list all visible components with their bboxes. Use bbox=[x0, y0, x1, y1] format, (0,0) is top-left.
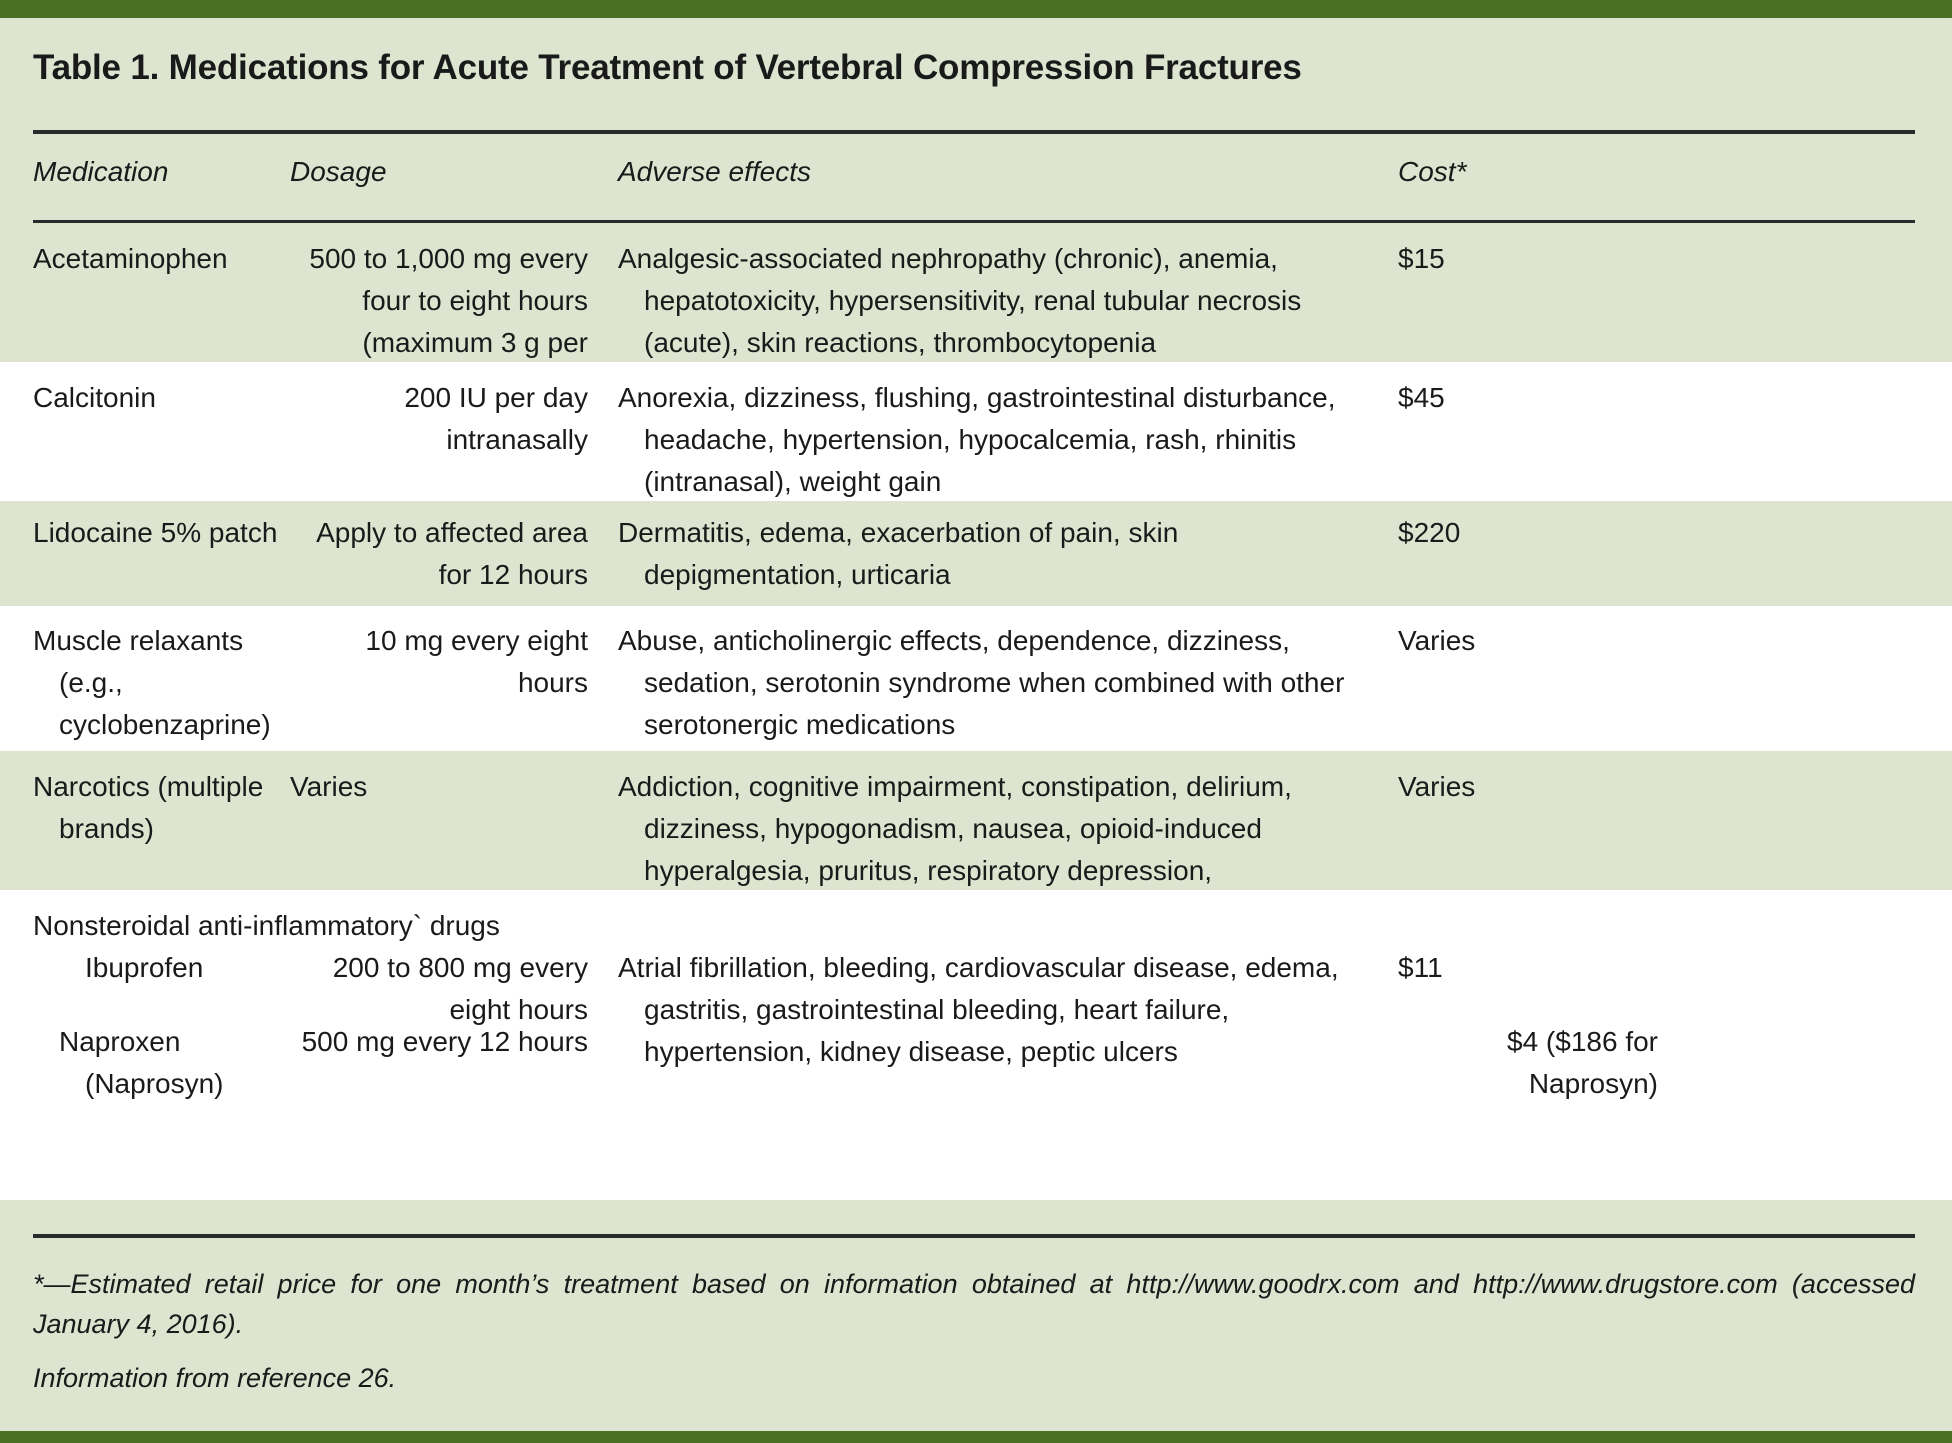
cell-cost: $15 bbox=[1398, 238, 1658, 280]
table-row-group-nsaid: Nonsteroidal anti-inflammatory` drugs Ib… bbox=[0, 890, 1952, 1200]
cell-dosage: 200 to 800 mg every eight hours bbox=[290, 947, 610, 1031]
cell-medication: Acetaminophen bbox=[33, 238, 285, 280]
cell-dosage: 200 IU per day intranasally bbox=[290, 377, 610, 461]
cell-dosage: 500 mg every 12 hours bbox=[290, 1021, 610, 1063]
cell-dosage: Apply to affected area for 12 hours bbox=[290, 512, 610, 596]
cell-medication: Narcotics (multiple brands) bbox=[33, 766, 285, 850]
cell-adverse-effects: Atrial fibrillation, bleeding, cardiovas… bbox=[618, 947, 1378, 1073]
table-row: Calcitonin 200 IU per day intranasally A… bbox=[0, 362, 1952, 501]
footnote-source: Information from reference 26. bbox=[33, 1358, 1915, 1398]
cell-adverse-effects: Analgesic-associated nephropathy (chroni… bbox=[618, 238, 1378, 364]
cell-cost: Varies bbox=[1398, 766, 1658, 808]
column-header-dosage: Dosage bbox=[290, 156, 387, 188]
medication-table: Table 1. Medications for Acute Treatment… bbox=[0, 0, 1952, 1443]
cell-medication: Lidocaine 5% patch bbox=[33, 512, 285, 554]
cell-adverse-effects: Abuse, anticholinergic effects, dependen… bbox=[618, 620, 1378, 746]
cell-cost: $45 bbox=[1398, 377, 1658, 419]
cell-cost: Varies bbox=[1398, 620, 1658, 662]
cell-cost: $4 ($186 for Naprosyn) bbox=[1398, 1021, 1658, 1105]
column-header-row: Medication Dosage Adverse effects Cost* bbox=[0, 134, 1952, 220]
table-row: Narcotics (multiple brands) Varies Addic… bbox=[0, 751, 1952, 890]
footnote-rule bbox=[33, 1234, 1915, 1238]
column-header-cost: Cost* bbox=[1398, 156, 1466, 188]
column-header-adverse-effects: Adverse effects bbox=[618, 156, 811, 188]
cell-medication: Ibuprofen bbox=[33, 947, 285, 989]
title-zone: Table 1. Medications for Acute Treatment… bbox=[0, 18, 1952, 112]
cell-medication: Calcitonin bbox=[33, 377, 285, 419]
column-header-medication: Medication bbox=[33, 156, 168, 188]
table-row: Acetaminophen 500 to 1,000 mg every four… bbox=[0, 223, 1952, 362]
table-row: Muscle relaxants (e.g., cyclobenzaprine)… bbox=[0, 606, 1952, 751]
nsaid-group-heading: Nonsteroidal anti-inflammatory` drugs bbox=[33, 905, 633, 947]
footnote-cost: *—Estimated retail price for one month’s… bbox=[33, 1264, 1915, 1344]
cell-medication: Naproxen (Naprosyn) bbox=[33, 1021, 285, 1105]
cell-adverse-effects: Anorexia, dizziness, flushing, gastroint… bbox=[618, 377, 1378, 503]
table-row: Lidocaine 5% patch Apply to affected are… bbox=[0, 501, 1952, 606]
cell-adverse-effects: Dermatitis, edema, exacerbation of pain,… bbox=[618, 512, 1378, 596]
cell-dosage: 10 mg every eight hours bbox=[290, 620, 610, 704]
cell-cost: $220 bbox=[1398, 512, 1658, 554]
cell-medication: Muscle relaxants (e.g., cyclobenzaprine) bbox=[33, 620, 285, 746]
page-title: Table 1. Medications for Acute Treatment… bbox=[33, 48, 1302, 88]
cell-dosage: Varies bbox=[290, 766, 610, 808]
cell-cost: $11 bbox=[1398, 947, 1658, 989]
